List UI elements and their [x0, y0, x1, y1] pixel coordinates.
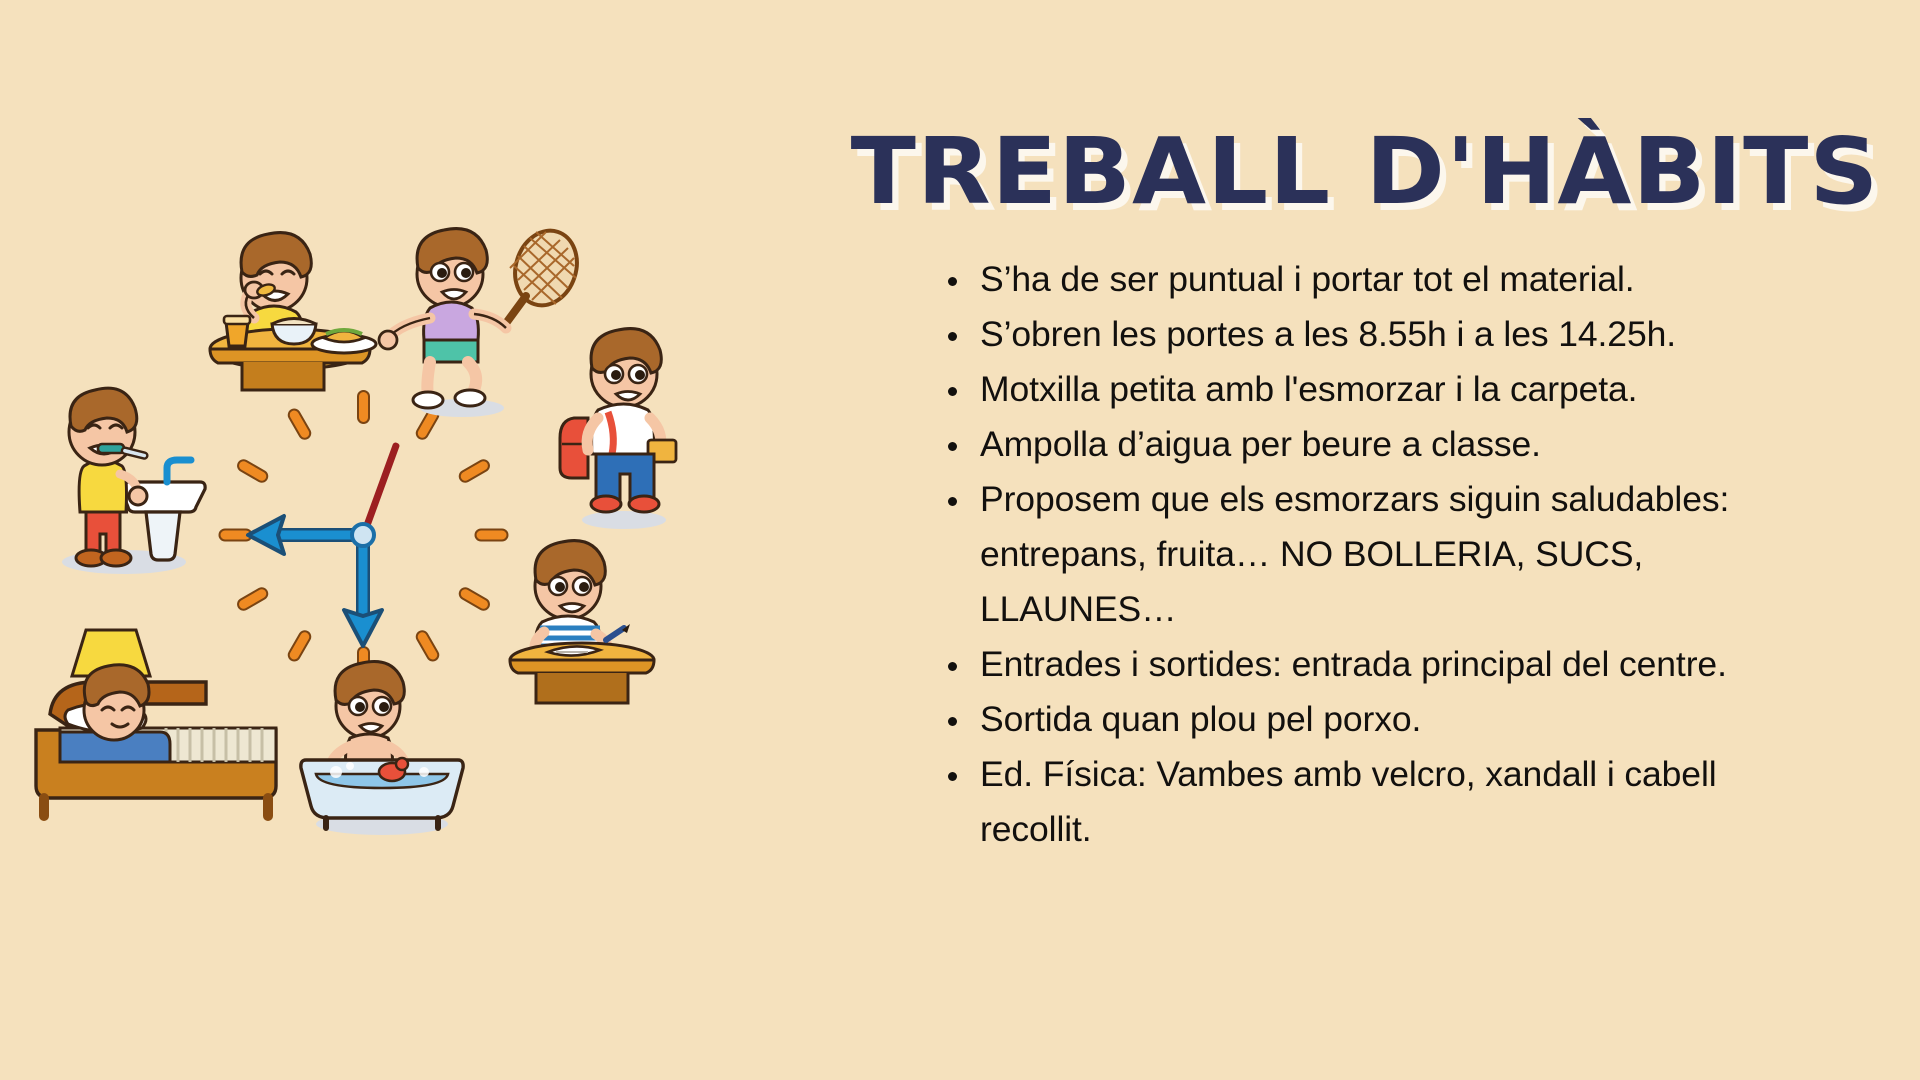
rules-list: S’ha de ser puntual i portar tot el mate…: [940, 252, 1770, 857]
scene-brushing-teeth: [28, 370, 228, 580]
clock-center-pin: [350, 522, 376, 548]
clock-hour-hand: [344, 535, 382, 646]
list-item: Sortida quan plou pel porxo.: [940, 692, 1770, 747]
list-item: Ampolla d’aigua per beure a classe.: [940, 417, 1770, 472]
scene-going-to-school: [540, 322, 710, 532]
page-title: TREBALL D'HÀBITS: [840, 124, 1890, 221]
clock-minute-hand: [248, 516, 363, 554]
list-item: S’ha de ser puntual i portar tot el mate…: [940, 252, 1770, 307]
sink-icon: [121, 460, 205, 560]
tennis-racket-icon: [504, 223, 586, 326]
text-column: TREBALL D'HÀBITS S’ha de ser puntual i p…: [860, 0, 1920, 1080]
list-item: Entrades i sortides: entrada principal d…: [940, 637, 1770, 692]
list-item: Proposem que els esmorzars siguin saluda…: [940, 472, 1770, 637]
illustration-area: [0, 0, 860, 1080]
list-item: Motxilla petita amb l'esmorzar i la carp…: [940, 362, 1770, 417]
scene-eating-breakfast: [196, 228, 396, 388]
scene-doing-homework: [498, 528, 688, 718]
poster-root: TREBALL D'HÀBITS S’ha de ser puntual i p…: [0, 0, 1920, 1080]
list-item: Ed. Física: Vambes amb velcro, xandall i…: [940, 747, 1770, 857]
list-item: S’obren les portes a les 8.55h i a les 1…: [940, 307, 1770, 362]
scene-taking-bath: [292, 660, 472, 840]
scene-sleeping: [16, 618, 296, 828]
